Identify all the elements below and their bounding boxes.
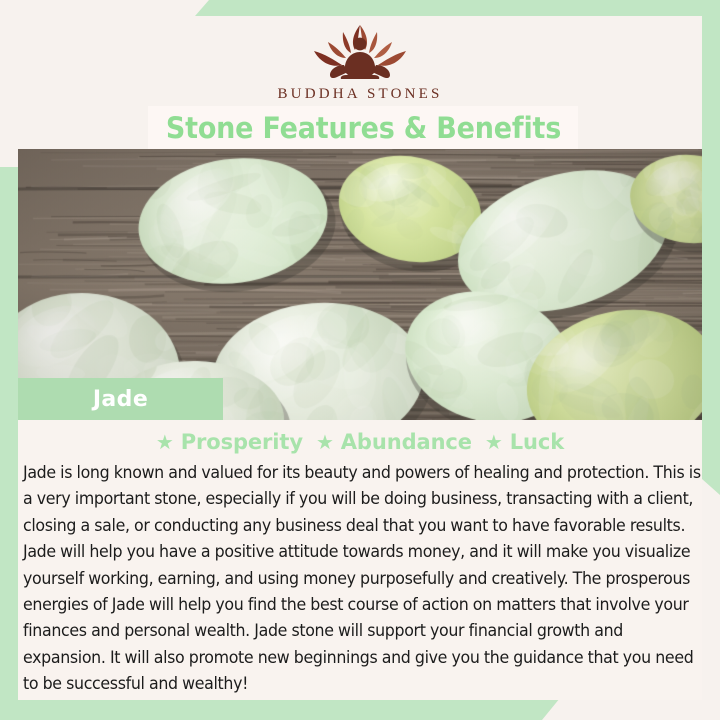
decor-band-left <box>0 167 18 720</box>
brand-name: BUDDHA STONES <box>277 86 442 103</box>
keyword-list: ★Prosperity★Abundance★Luck <box>18 420 702 458</box>
star-icon: ★ <box>316 432 334 452</box>
decor-band-bottom <box>0 698 560 720</box>
stone-description: Jade is long known and valued for its be… <box>23 460 704 698</box>
page-title: Stone Features & Benefits <box>165 111 560 145</box>
keyword-label: Prosperity <box>181 430 303 454</box>
keyword-item: ★Prosperity <box>156 430 303 454</box>
star-icon: ★ <box>485 432 503 452</box>
lotus-meditation-icon <box>300 18 420 84</box>
stone-name-banner: Jade <box>18 378 223 420</box>
content-panel: ★Prosperity★Abundance★Luck Jade is long … <box>18 420 702 700</box>
star-icon: ★ <box>156 432 174 452</box>
stone-name: Jade <box>93 387 148 412</box>
keyword-label: Luck <box>510 430 564 454</box>
keyword-item: ★Abundance <box>316 430 472 454</box>
stone-features-infographic: BUDDHA STONES Stone Features & Benefits … <box>0 0 720 720</box>
keyword-item: ★Luck <box>485 430 564 454</box>
section-title-band: Stone Features & Benefits <box>148 106 578 149</box>
brand-header: BUDDHA STONES <box>0 0 720 112</box>
keyword-label: Abundance <box>341 430 472 454</box>
